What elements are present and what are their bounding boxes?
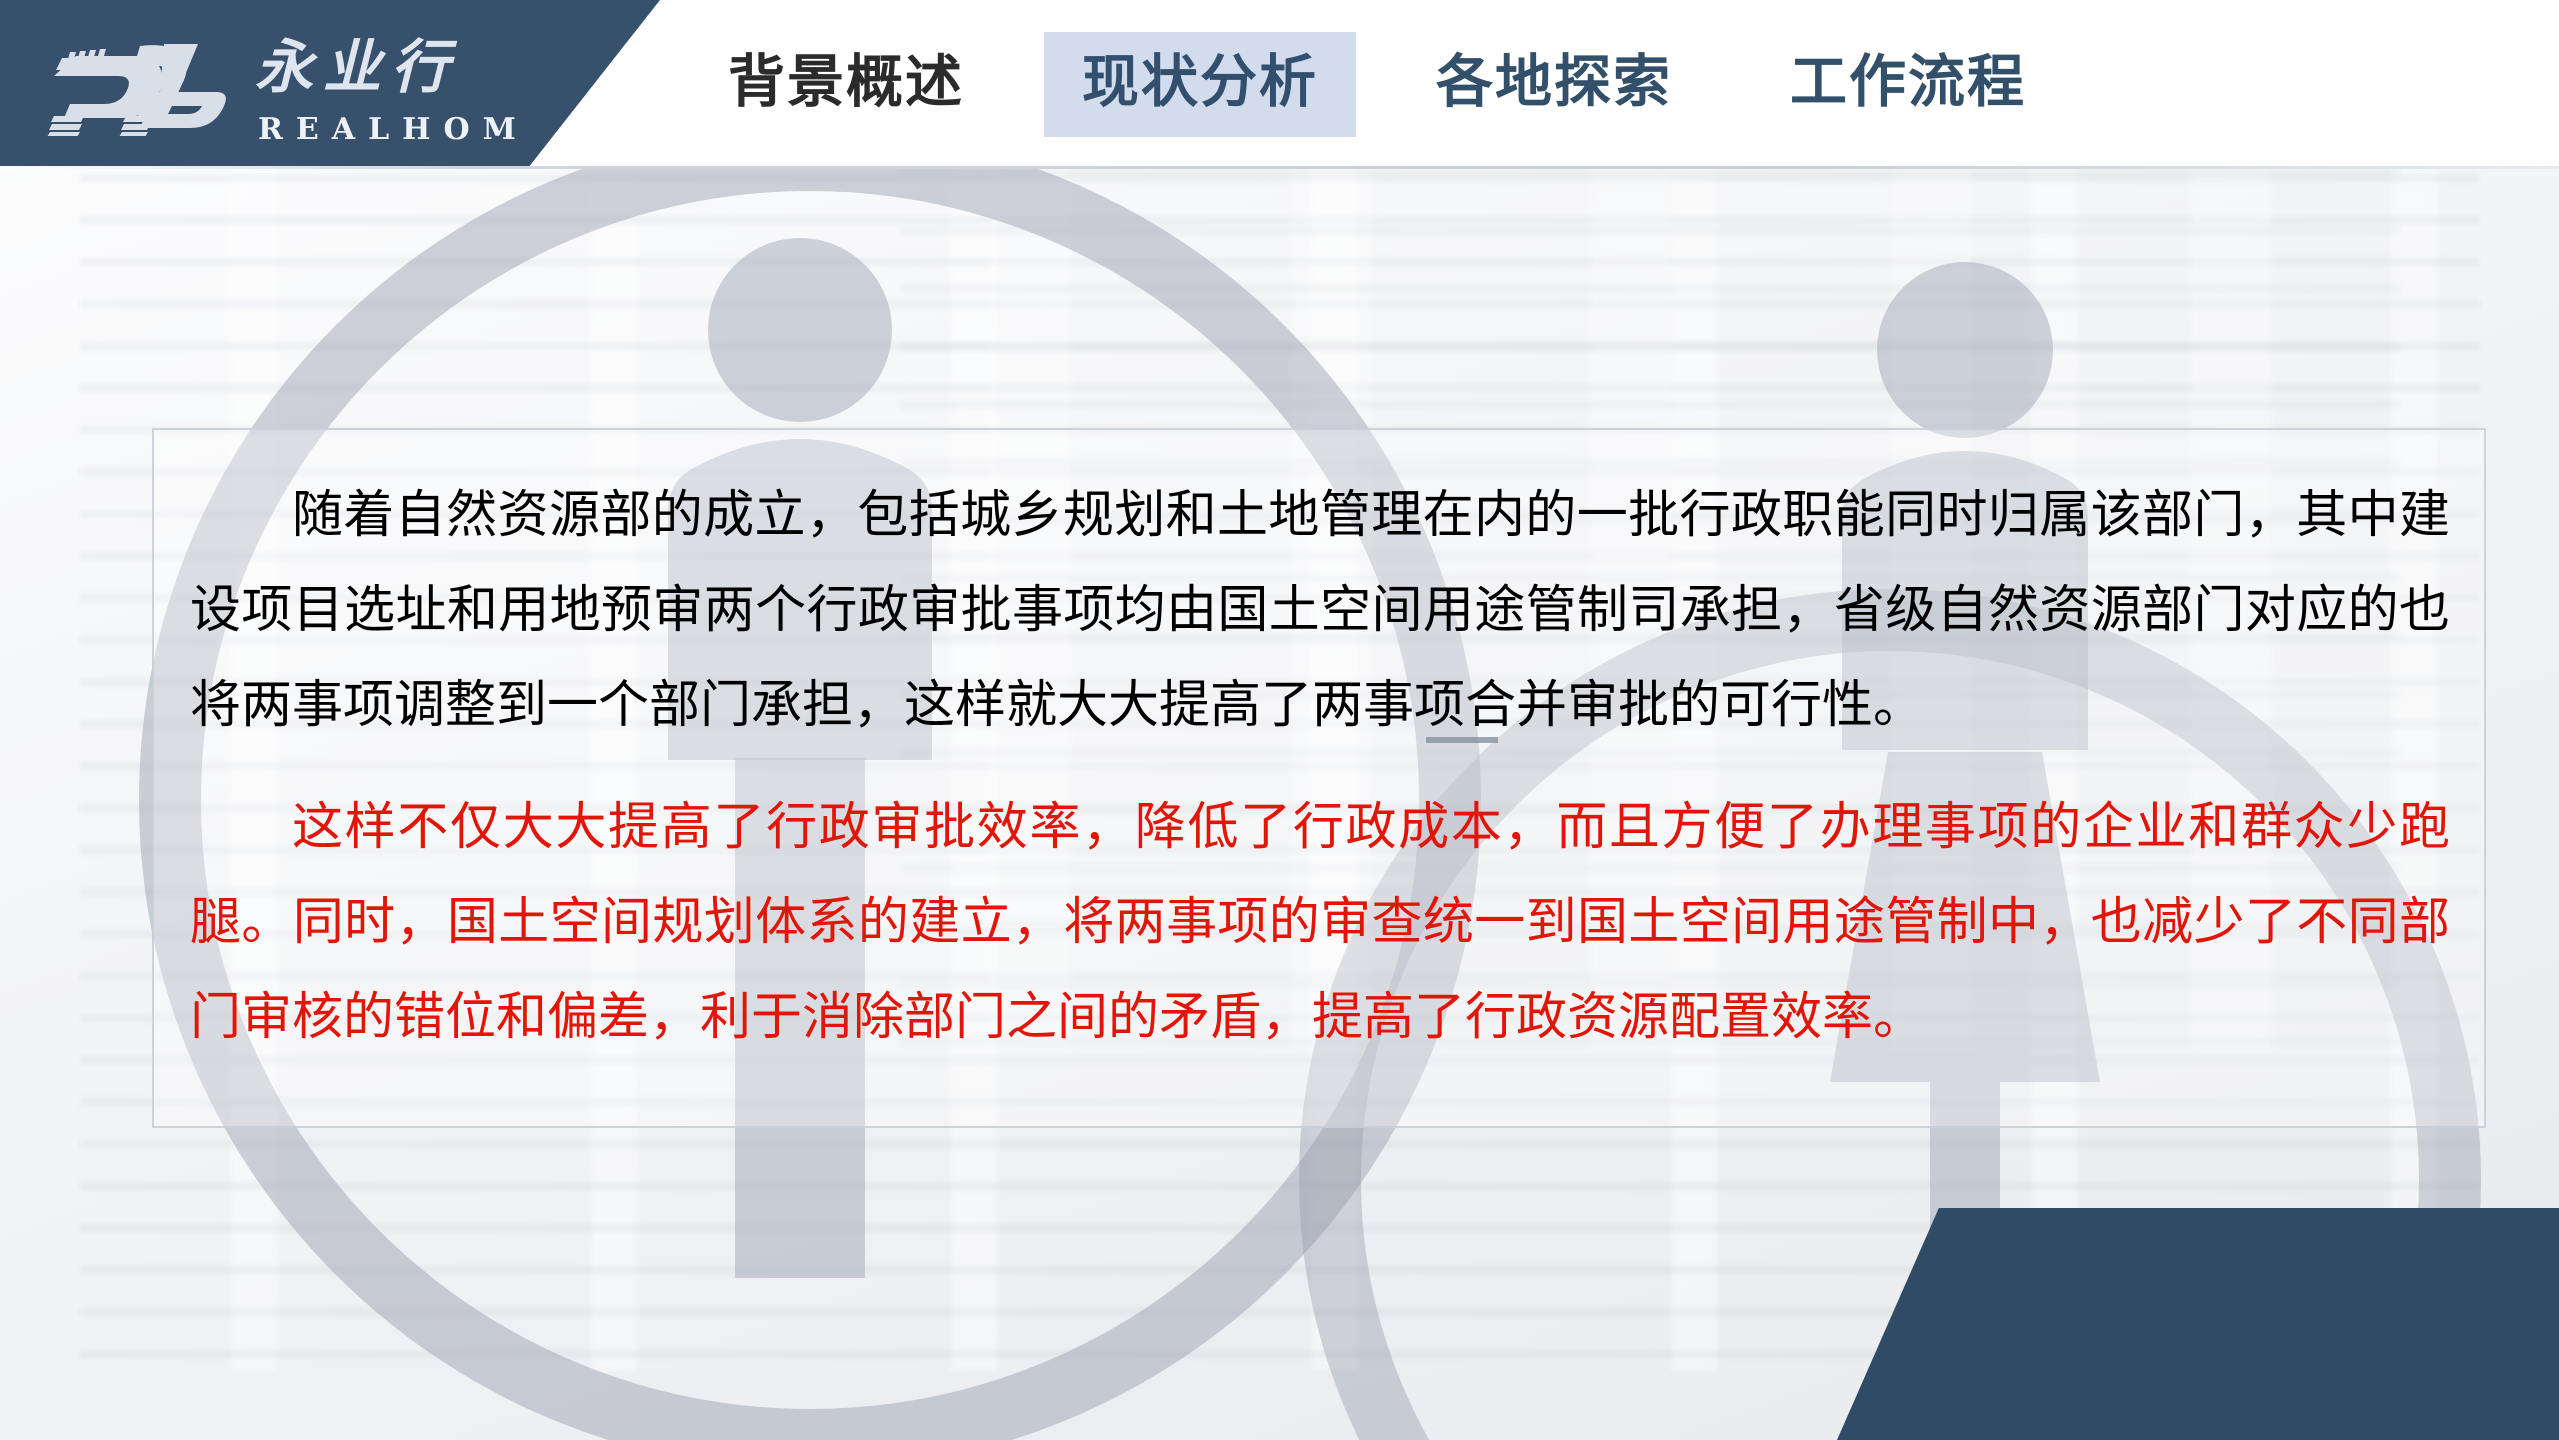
brand-name-cn: 永业行: [255, 22, 575, 112]
top-navigation: 背景概述 现状分析 各地探索 工作流程: [690, 0, 2106, 168]
tab-regional-exploration[interactable]: 各地探索: [1398, 32, 1710, 137]
slide-header: 永业行 REALHOM 背景概述 现状分析 各地探索 工作流程: [0, 0, 2559, 168]
paragraph-separator-mark: [1426, 737, 1498, 743]
brand-name-en: REALHOM: [258, 112, 529, 147]
yh-monogram-icon: [44, 36, 254, 136]
corner-accent-shape: [1799, 1208, 2559, 1440]
slide-root: 永业行 REALHOM 背景概述 现状分析 各地探索 工作流程 随着自然资源部的…: [0, 0, 2559, 1440]
tab-current-analysis[interactable]: 现状分析: [1044, 32, 1356, 137]
paragraph-black: 随着自然资源部的成立，包括城乡规划和土地管理在内的一批行政职能同时归属该部门，其…: [190, 468, 2450, 753]
tab-background-overview[interactable]: 背景概述: [690, 32, 1002, 137]
header-divider: [0, 166, 2559, 169]
content-card: 随着自然资源部的成立，包括城乡规划和土地管理在内的一批行政职能同时归属该部门，其…: [152, 428, 2486, 1128]
paragraph-red: 这样不仅大大提高了行政审批效率，降低了行政成本，而且方便了办理事项的企业和群众少…: [190, 780, 2450, 1065]
tab-workflow[interactable]: 工作流程: [1752, 32, 2064, 137]
